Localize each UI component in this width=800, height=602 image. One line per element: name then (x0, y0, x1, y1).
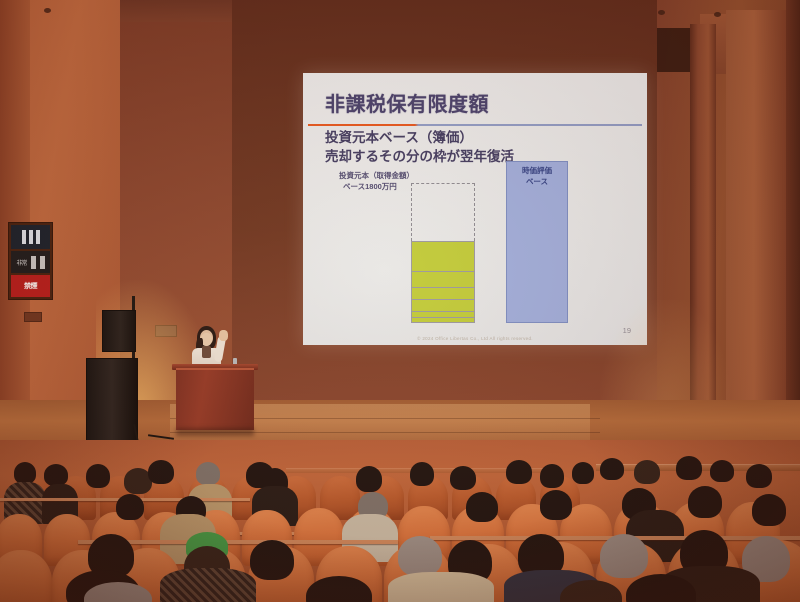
bar-segment (412, 272, 474, 288)
bar-segment (412, 288, 474, 300)
bar-segment (412, 318, 474, 322)
presenter-hand (219, 330, 228, 341)
audience-head (540, 490, 572, 520)
lecture-hall-scene: 非常 禁煙 非課税保有限度額 投資元本ベース（簿価） 売却するその分の枠が翌年復… (0, 0, 800, 602)
pa-speaker-bottom (86, 358, 138, 453)
audience-head (116, 494, 144, 520)
no-smoking-sign: 禁煙 (11, 275, 50, 297)
audience-head (688, 486, 722, 518)
audience-head (14, 462, 36, 484)
audience-head (356, 466, 382, 492)
presenter-scarf (202, 346, 211, 358)
audience-head (148, 460, 174, 484)
presentation-slide: 非課税保有限度額 投資元本ベース（簿価） 売却するその分の枠が翌年復活 投資元本… (303, 73, 647, 345)
green-bar-label: 投資元本（取得金額） ベース1800万円 (339, 171, 414, 193)
slide-chart: 投資元本（取得金額） ベース1800万円 (303, 169, 647, 329)
slide-body-line-2: 売却するその分の枠が翌年復活 (325, 148, 514, 165)
podium-shadow (176, 428, 254, 436)
emergency-sign-panel: 非常 禁煙 (8, 222, 53, 300)
audience-head (710, 460, 734, 482)
audience-head (752, 494, 786, 526)
audience-head (250, 540, 294, 580)
audience-head (86, 464, 110, 488)
emergency-label: 非常 (16, 258, 26, 267)
blue-bar-label: 時価評価 ベース (506, 165, 568, 188)
green-bar-label-line-2: ベース1800万円 (339, 182, 414, 193)
audience-head (600, 534, 648, 578)
audience-shoulders (388, 572, 494, 602)
bar-segment (412, 242, 474, 272)
wall-vent (24, 312, 42, 322)
blue-bar-label-line-2: ベース (506, 176, 568, 187)
unused-allowance-outline (411, 183, 475, 241)
no-smoking-label: 禁煙 (24, 281, 37, 291)
audience-head (572, 462, 594, 484)
audience-head (634, 460, 660, 484)
audience-head (450, 466, 476, 490)
audience-head (410, 462, 434, 486)
audience-shoulders (160, 568, 256, 602)
audience-head (676, 456, 702, 480)
audience-head (196, 462, 220, 485)
audience-head (398, 536, 442, 576)
pa-speaker-top (102, 310, 136, 352)
title-underline-rule (308, 124, 642, 126)
slide-title: 非課税保有限度額 (325, 95, 489, 115)
audience-head (600, 458, 624, 480)
ceiling-light-a (44, 8, 51, 13)
exit-indicator: 非常 (11, 251, 50, 273)
audience-head (466, 492, 498, 522)
green-bar-label-line-1: 投資元本（取得金額） (339, 171, 414, 182)
principal-basis-bar-group (411, 183, 475, 323)
audience-area (0, 440, 800, 602)
slide-copyright-footer: © 2024 Office Libertas Co., Ltd All righ… (303, 336, 647, 341)
audience-head (44, 464, 68, 486)
market-value-basis-bar-group: 時価評価 ベース (506, 161, 568, 323)
audience-head (540, 464, 564, 488)
blue-bar-label-line-1: 時価評価 (506, 165, 568, 176)
audience-head (746, 464, 772, 488)
slide-body-line-1: 投資元本ベース（簿価） (325, 129, 473, 146)
bar-segment (412, 300, 474, 312)
display-screen-icon (11, 225, 50, 249)
podium (176, 368, 254, 430)
principal-basis-bar (411, 241, 475, 323)
wall-pillar-b (726, 10, 788, 465)
audience-head (506, 460, 532, 484)
ceiling-light-e (714, 12, 721, 17)
ceiling-light-d (658, 10, 665, 15)
